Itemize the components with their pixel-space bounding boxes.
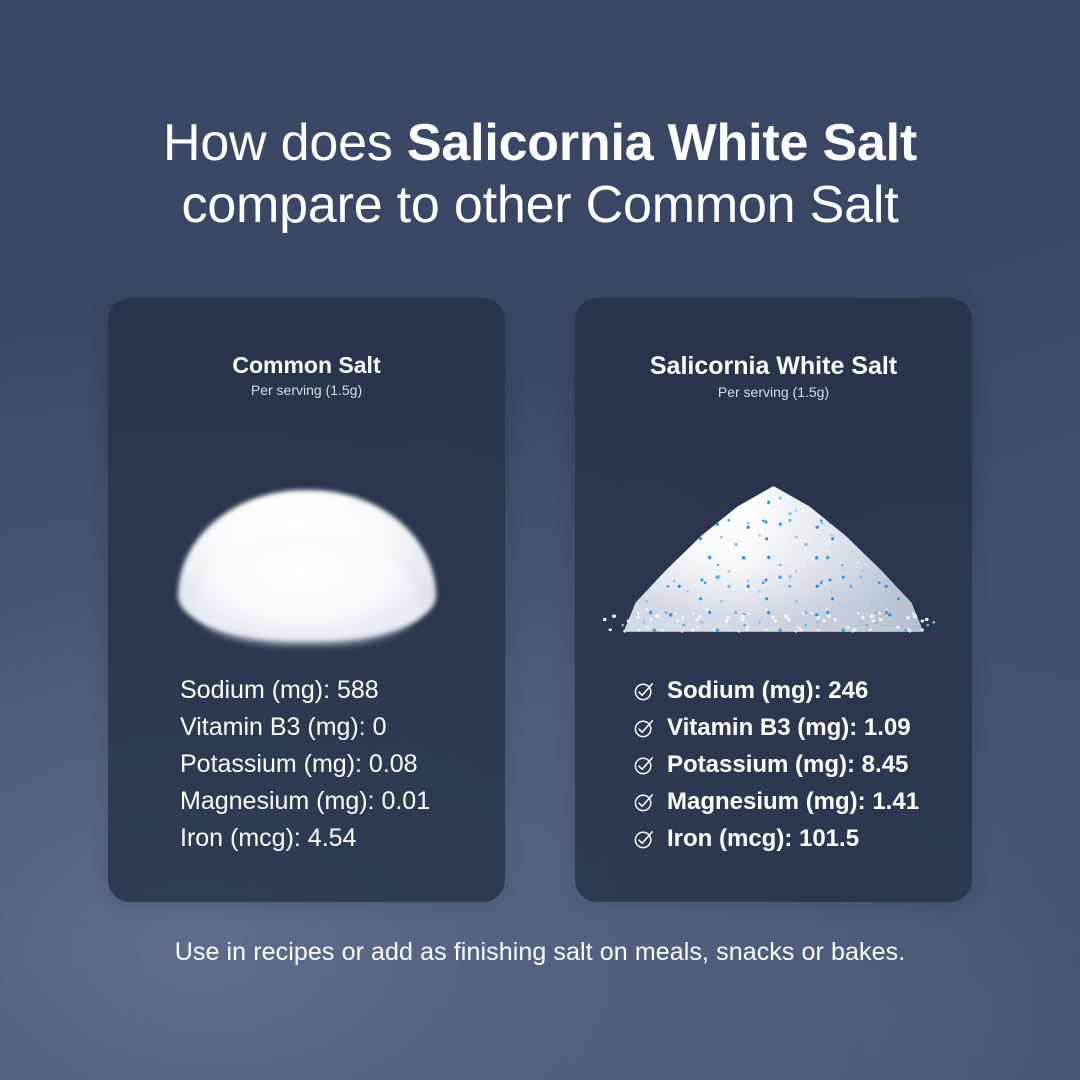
- list-item: Magnesium (mg): 1.41: [633, 783, 919, 820]
- list-item-label: Potassium (mg): 8.45: [667, 746, 908, 783]
- list-item: Sodium (mg): 588: [180, 672, 430, 709]
- list-item-label: Magnesium (mg): 1.41: [667, 783, 919, 820]
- infographic-poster: How does Salicornia White Salt compare t…: [0, 0, 1080, 1080]
- list-item: Iron (mcg): 101.5: [633, 820, 919, 857]
- card-salicornia-serving: Per serving (1.5g): [575, 384, 972, 400]
- circled-check-icon: [633, 680, 655, 702]
- list-item: Vitamin B3 (mg): 0: [180, 709, 430, 746]
- circled-check-icon: [633, 754, 655, 776]
- list-item-label: Vitamin B3 (mg): 1.09: [667, 709, 911, 746]
- common-salt-image-stage: [108, 416, 505, 646]
- list-item: Iron (mcg): 4.54: [180, 820, 430, 857]
- title-line-1: How does Salicornia White Salt: [0, 112, 1080, 174]
- list-item: Potassium (mg): 8.45: [633, 746, 919, 783]
- title-line-2: compare to other Common Salt: [0, 174, 1080, 236]
- common-salt-nutrient-list: Sodium (mg): 588 Vitamin B3 (mg): 0 Pota…: [180, 672, 430, 857]
- circled-check-icon: [633, 717, 655, 739]
- salicornia-image-stage: [575, 422, 972, 642]
- card-salicornia-title: Salicornia White Salt: [575, 352, 972, 381]
- card-common-salt: Common Salt Per serving (1.5g) Sodium (m…: [108, 298, 505, 902]
- salicornia-nutrient-list: Sodium (mg): 246 Vitamin B3 (mg): 1.09 P…: [633, 672, 919, 857]
- title-prefix: How does: [163, 114, 407, 172]
- list-item: Sodium (mg): 246: [633, 672, 919, 709]
- comparison-cards: Common Salt Per serving (1.5g) Sodium (m…: [108, 298, 972, 902]
- circled-check-icon: [633, 791, 655, 813]
- circled-check-icon: [633, 828, 655, 850]
- list-item: Magnesium (mg): 0.01: [180, 783, 430, 820]
- common-salt-powder-pile: [172, 478, 442, 646]
- page-title: How does Salicornia White Salt compare t…: [0, 112, 1080, 236]
- salicornia-salt-granule-pile: [594, 462, 954, 642]
- granule-scatter-base: [602, 606, 946, 640]
- list-item-label: Sodium (mg): 246: [667, 672, 868, 709]
- card-salicornia-white-salt: Salicornia White Salt Per serving (1.5g)…: [575, 298, 972, 902]
- list-item: Vitamin B3 (mg): 1.09: [633, 709, 919, 746]
- footer-caption: Use in recipes or add as finishing salt …: [0, 938, 1080, 967]
- title-emphasis: Salicornia White Salt: [407, 114, 917, 172]
- list-item-label: Iron (mcg): 101.5: [667, 820, 859, 857]
- list-item: Potassium (mg): 0.08: [180, 746, 430, 783]
- card-common-salt-serving: Per serving (1.5g): [108, 382, 505, 398]
- card-common-salt-title: Common Salt: [108, 352, 505, 379]
